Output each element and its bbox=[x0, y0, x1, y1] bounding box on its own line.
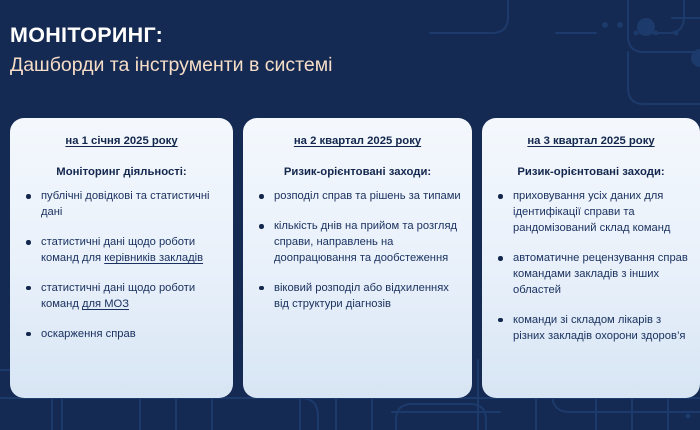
list-item: кількість днів на прийом та розгляд спра… bbox=[253, 219, 462, 267]
page-title: МОНІТОРИНГ: bbox=[10, 22, 332, 49]
list-item: публічні довідкові та статистичні дані bbox=[20, 189, 223, 221]
bullet-text: публічні довідкові та статистичні дані bbox=[41, 190, 210, 218]
card-q2: на 2 квартал 2025 року Ризик-орієнтовані… bbox=[243, 118, 472, 398]
bullet-text: розподіл справ та рішень за типами bbox=[274, 190, 461, 202]
page-subtitle: Дашборди та інструменти в системі bbox=[10, 53, 332, 77]
bullet-text-underlined: керівників закладів bbox=[104, 252, 203, 264]
bullet-text: автоматичне рецензування справ командами… bbox=[513, 252, 688, 296]
bullet-text: оскарження справ bbox=[41, 328, 136, 340]
list-item: оскарження справ bbox=[20, 327, 223, 343]
card-bullet-list: приховування усіх даних для ідентифікаці… bbox=[492, 189, 690, 344]
list-item: розподіл справ та рішень за типами bbox=[253, 189, 462, 205]
card-q3: на 3 квартал 2025 року Ризик-орієнтовані… bbox=[482, 118, 700, 398]
list-item: віковий розподіл або відхиленнях від стр… bbox=[253, 281, 462, 313]
list-item: автоматичне рецензування справ командами… bbox=[492, 251, 690, 299]
card-subtitle: Ризик-орієнтовані заходи: bbox=[492, 165, 690, 180]
list-item: статистичні дані щодо роботи команд для … bbox=[20, 235, 223, 267]
card-date: на 1 січня 2025 року bbox=[20, 134, 223, 149]
slide-header: МОНІТОРИНГ: Дашборди та інструменти в си… bbox=[10, 22, 332, 77]
card-subtitle: Моніторинг діяльності: bbox=[20, 165, 223, 180]
card-subtitle: Ризик-орієнтовані заходи: bbox=[253, 165, 462, 180]
card-date: на 2 квартал 2025 року bbox=[253, 134, 462, 149]
slide-root: МОНІТОРИНГ: Дашборди та інструменти в си… bbox=[0, 0, 700, 430]
bullet-text: кількість днів на прийом та розгляд спра… bbox=[274, 220, 457, 264]
bullet-text: команди зі складом лікарів з різних закл… bbox=[513, 314, 685, 342]
card-date: на 3 квартал 2025 року bbox=[492, 134, 690, 149]
list-item: команди зі складом лікарів з різних закл… bbox=[492, 313, 690, 345]
card-bullet-list: розподіл справ та рішень за типами кільк… bbox=[253, 189, 462, 312]
list-item: приховування усіх даних для ідентифікаці… bbox=[492, 189, 690, 237]
card-bullet-list: публічні довідкові та статистичні дані с… bbox=[20, 189, 223, 342]
bullet-text: приховування усіх даних для ідентифікаці… bbox=[513, 190, 670, 234]
card-q1: на 1 січня 2025 року Моніторинг діяльнос… bbox=[10, 118, 233, 398]
bullet-text: віковий розподіл або відхиленнях від стр… bbox=[274, 282, 449, 310]
cards-container: на 1 січня 2025 року Моніторинг діяльнос… bbox=[0, 118, 700, 398]
bullet-text-underlined: для МОЗ bbox=[82, 298, 129, 310]
list-item: статистичні дані щодо роботи команд для … bbox=[20, 281, 223, 313]
